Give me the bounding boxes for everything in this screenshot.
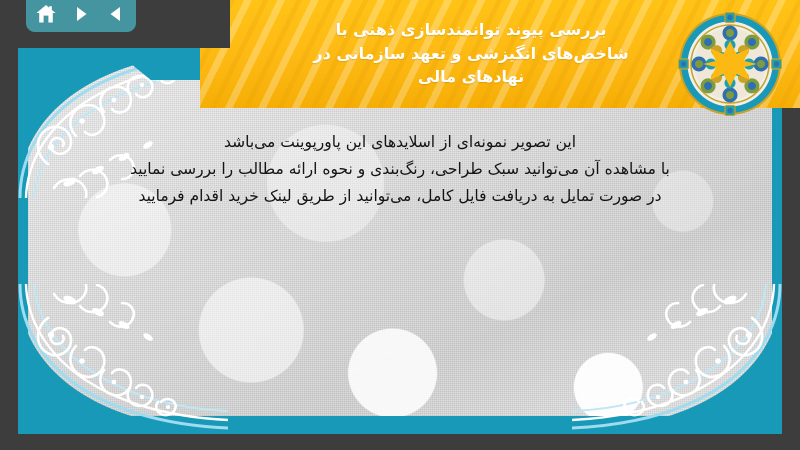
home-button[interactable] bbox=[33, 1, 59, 27]
persian-medallion-icon bbox=[678, 12, 782, 116]
home-icon bbox=[35, 4, 57, 24]
forward-button[interactable] bbox=[68, 1, 94, 27]
title-line: بررسی پیوند توانمندسازی ذهنی با bbox=[336, 19, 607, 42]
slide-body-text: این تصویر نمونه‌ای از اسلایدهای این پاور… bbox=[52, 130, 748, 211]
viewer-navigation-bar bbox=[26, 0, 136, 32]
slide-viewer: این تصویر نمونه‌ای از اسلایدهای این پاور… bbox=[0, 0, 800, 450]
triangle-left-icon bbox=[107, 5, 125, 23]
title-line: نهادهای مالی bbox=[418, 66, 524, 89]
back-button[interactable] bbox=[103, 1, 129, 27]
body-line: با مشاهده آن می‌توانید سبک طراحی، رنگ‌بن… bbox=[52, 157, 748, 182]
body-line: این تصویر نمونه‌ای از اسلایدهای این پاور… bbox=[52, 130, 748, 155]
title-line: شاخص‌های انگیزشی و تعهد سازمانی در bbox=[313, 43, 628, 66]
triangle-right-icon bbox=[72, 5, 90, 23]
slide-content-area bbox=[28, 58, 772, 416]
body-line: در صورت تمایل به دریافت فایل کامل، می‌تو… bbox=[52, 184, 748, 209]
